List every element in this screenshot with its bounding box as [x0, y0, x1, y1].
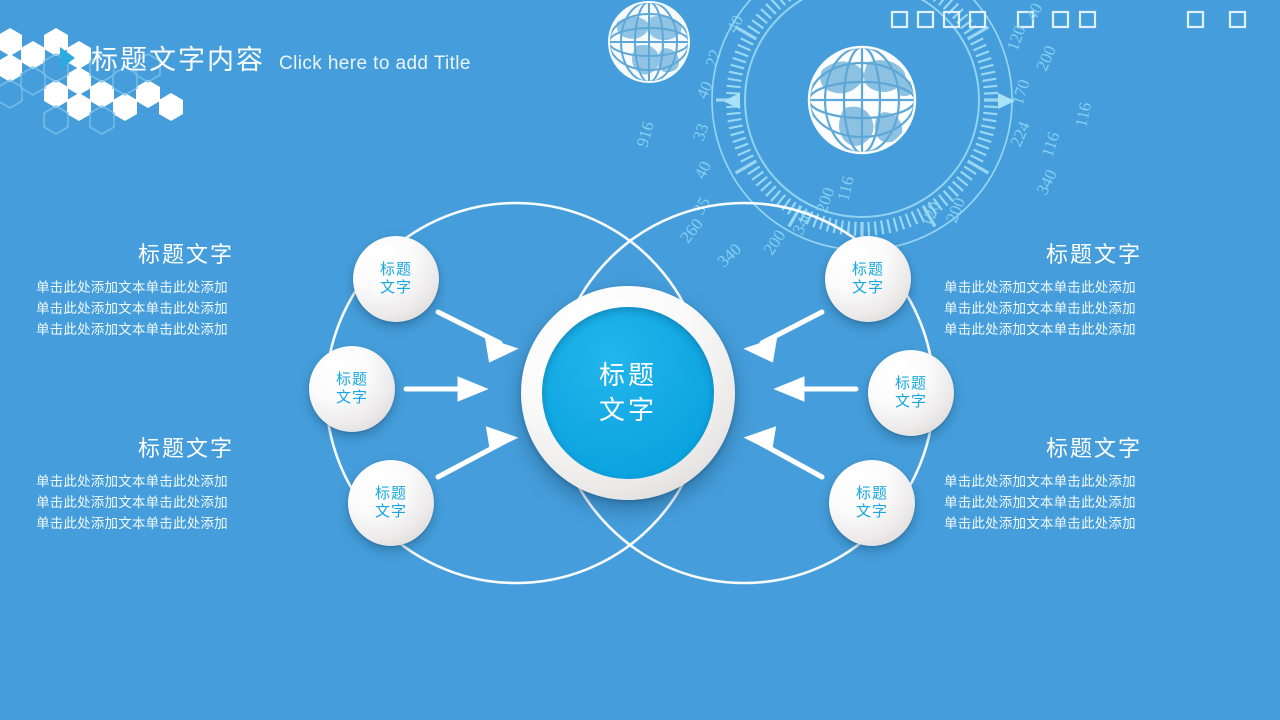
text-block-line: 单击此处添加文本单击此处添加	[36, 278, 336, 299]
svg-text:116: 116	[1071, 101, 1095, 129]
globe-wireframe-icon	[809, 47, 915, 153]
text-block-line: 单击此处添加文本单击此处添加	[944, 493, 1244, 514]
slide-header: 标题文字内容 Click here to add Title	[0, 0, 560, 150]
dial-numbers: 40 22 40 33 916 40 35 260 340 200 340 20…	[633, 0, 1096, 271]
node-label-line2: 文字	[856, 503, 888, 521]
center-node-disc[interactable]: 标题 文字	[542, 307, 714, 479]
svg-text:200: 200	[942, 195, 969, 226]
svg-text:340: 340	[789, 207, 817, 238]
text-block-line: 单击此处添加文本单击此处添加	[944, 514, 1244, 535]
svg-text:33: 33	[689, 121, 713, 143]
text-block-line: 单击此处添加文本单击此处添加	[36, 514, 336, 535]
center-label-line2: 文字	[599, 393, 657, 428]
node-label-line2: 文字	[852, 279, 884, 297]
node-label-line2: 文字	[336, 389, 368, 407]
node-label-line1: 标题	[380, 261, 412, 279]
svg-text:40: 40	[692, 78, 716, 101]
node-bottom-right[interactable]: 标题 文字	[829, 460, 915, 546]
svg-text:200: 200	[1032, 43, 1060, 74]
center-label-line1: 标题	[599, 358, 657, 393]
text-block-top-left: 标题文字 单击此处添加文本单击此处添加 单击此处添加文本单击此处添加 单击此处添…	[36, 243, 336, 341]
svg-text:224: 224	[1006, 118, 1034, 149]
node-label-line1: 标题	[852, 261, 884, 279]
svg-text:916: 916	[633, 119, 658, 149]
svg-text:116: 116	[1038, 130, 1064, 160]
triangle-right-icon	[60, 47, 75, 69]
text-block-top-right: 标题文字 单击此处添加文本单击此处添加 单击此处添加文本单击此处添加 单击此处添…	[944, 243, 1244, 341]
node-bottom-left[interactable]: 标题 文字	[348, 460, 434, 546]
svg-text:340: 340	[714, 239, 746, 270]
node-top-right[interactable]: 标题 文字	[825, 236, 911, 322]
svg-text:340: 340	[1033, 167, 1061, 198]
svg-text:116: 116	[833, 174, 857, 203]
text-block-line: 单击此处添加文本单击此处添加	[944, 472, 1244, 493]
header-title-row: 标题文字内容 Click here to add Title	[60, 38, 471, 77]
text-block-heading: 标题文字	[36, 437, 336, 461]
text-block-line: 单击此处添加文本单击此处添加	[36, 472, 336, 493]
text-block-line: 单击此处添加文本单击此处添加	[944, 299, 1244, 320]
slide-canvas: 40 22 40 33 916 40 35 260 340 200 340 20…	[0, 0, 1280, 720]
radar-dial-icon	[712, 0, 1012, 250]
node-mid-right[interactable]: 标题 文字	[868, 350, 954, 436]
svg-text:40: 40	[723, 12, 748, 36]
node-label-line2: 文字	[380, 279, 412, 297]
square-outline-icon	[892, 12, 1245, 27]
text-block-bottom-right: 标题文字 单击此处添加文本单击此处添加 单击此处添加文本单击此处添加 单击此处添…	[944, 437, 1244, 535]
text-block-line: 单击此处添加文本单击此处添加	[36, 493, 336, 514]
text-block-line: 单击此处添加文本单击此处添加	[944, 278, 1244, 299]
hexagon-cluster-icon	[0, 8, 200, 148]
svg-text:35: 35	[689, 194, 714, 218]
svg-text:200: 200	[812, 185, 839, 215]
text-block-line: 单击此处添加文本单击此处添加	[36, 299, 336, 320]
svg-text:260: 260	[676, 215, 707, 247]
svg-text:40: 40	[691, 158, 716, 182]
text-block-bottom-left: 标题文字 单击此处添加文本单击此处添加 单击此处添加文本单击此处添加 单击此处添…	[36, 437, 336, 535]
node-top-left[interactable]: 标题 文字	[353, 236, 439, 322]
svg-text:40: 40	[1022, 0, 1047, 24]
svg-text:120: 120	[918, 199, 944, 229]
svg-text:200: 200	[760, 226, 790, 258]
page-title: 标题文字内容	[91, 38, 265, 77]
node-label-line1: 标题	[375, 485, 407, 503]
node-label-line1: 标题	[856, 485, 888, 503]
text-block-heading: 标题文字	[944, 437, 1244, 461]
svg-text:120: 120	[1003, 23, 1030, 53]
text-block-heading: 标题文字	[944, 243, 1244, 267]
text-block-line: 单击此处添加文本单击此处添加	[36, 320, 336, 341]
svg-text:22: 22	[702, 47, 725, 69]
node-label-line1: 标题	[336, 371, 368, 389]
node-mid-left[interactable]: 标题 文字	[309, 346, 395, 432]
node-label-line1: 标题	[895, 375, 927, 393]
text-block-heading: 标题文字	[36, 243, 336, 267]
page-subtitle: Click here to add Title	[279, 53, 471, 75]
triangle-marker-icon	[723, 93, 1015, 109]
text-block-line: 单击此处添加文本单击此处添加	[944, 320, 1244, 341]
center-node[interactable]: 标题 文字	[521, 286, 735, 500]
node-label-line2: 文字	[895, 393, 927, 411]
node-label-line2: 文字	[375, 503, 407, 521]
globe-wireframe-icon	[609, 2, 689, 82]
svg-text:170: 170	[1008, 77, 1034, 107]
